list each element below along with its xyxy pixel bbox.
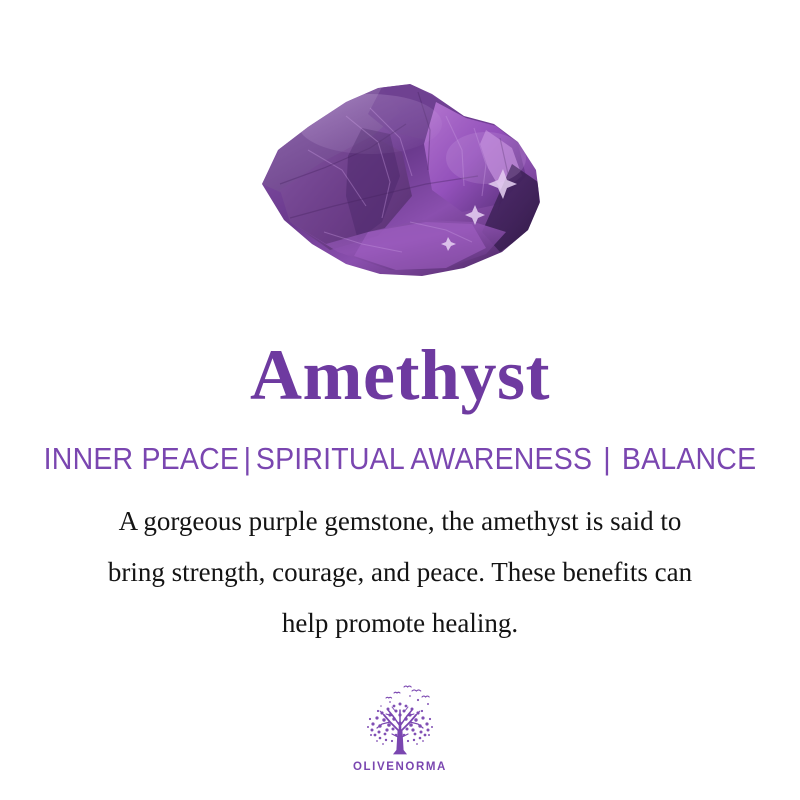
description-text: A gorgeous purple gemstone, the amethyst… [52, 496, 748, 649]
description-line-3: help promote healing. [52, 598, 748, 649]
keyword-spiritual-awareness: SPIRITUAL AWARENESS [256, 441, 592, 476]
keyword-line: INNER PEACE|SPIRITUAL AWARENESS|BALANCE [32, 440, 768, 478]
description-line-1: A gorgeous purple gemstone, the amethyst… [52, 496, 748, 547]
keyword-inner-peace: INNER PEACE [44, 441, 239, 476]
tree-trunk [393, 730, 407, 754]
keyword-balance: BALANCE [622, 441, 756, 476]
brand-name: OLIVENORMA [0, 761, 800, 773]
gem-facets [262, 84, 540, 270]
keyword-separator-2: | [592, 440, 622, 478]
page-title: Amethyst [0, 332, 800, 418]
description-line-2: bring strength, courage, and peace. Thes… [52, 547, 748, 598]
amethyst-crystal-icon [250, 72, 550, 292]
keyword-separator-1: | [239, 440, 256, 478]
amethyst-crystal-image [250, 72, 550, 292]
hero-image-stage [0, 62, 800, 312]
amethyst-info-card: Amethyst INNER PEACE|SPIRITUAL AWARENESS… [0, 0, 800, 800]
brand-logo: OLIVENORMA [0, 682, 800, 773]
tree-icon [352, 682, 448, 760]
birds-icon [386, 686, 429, 698]
